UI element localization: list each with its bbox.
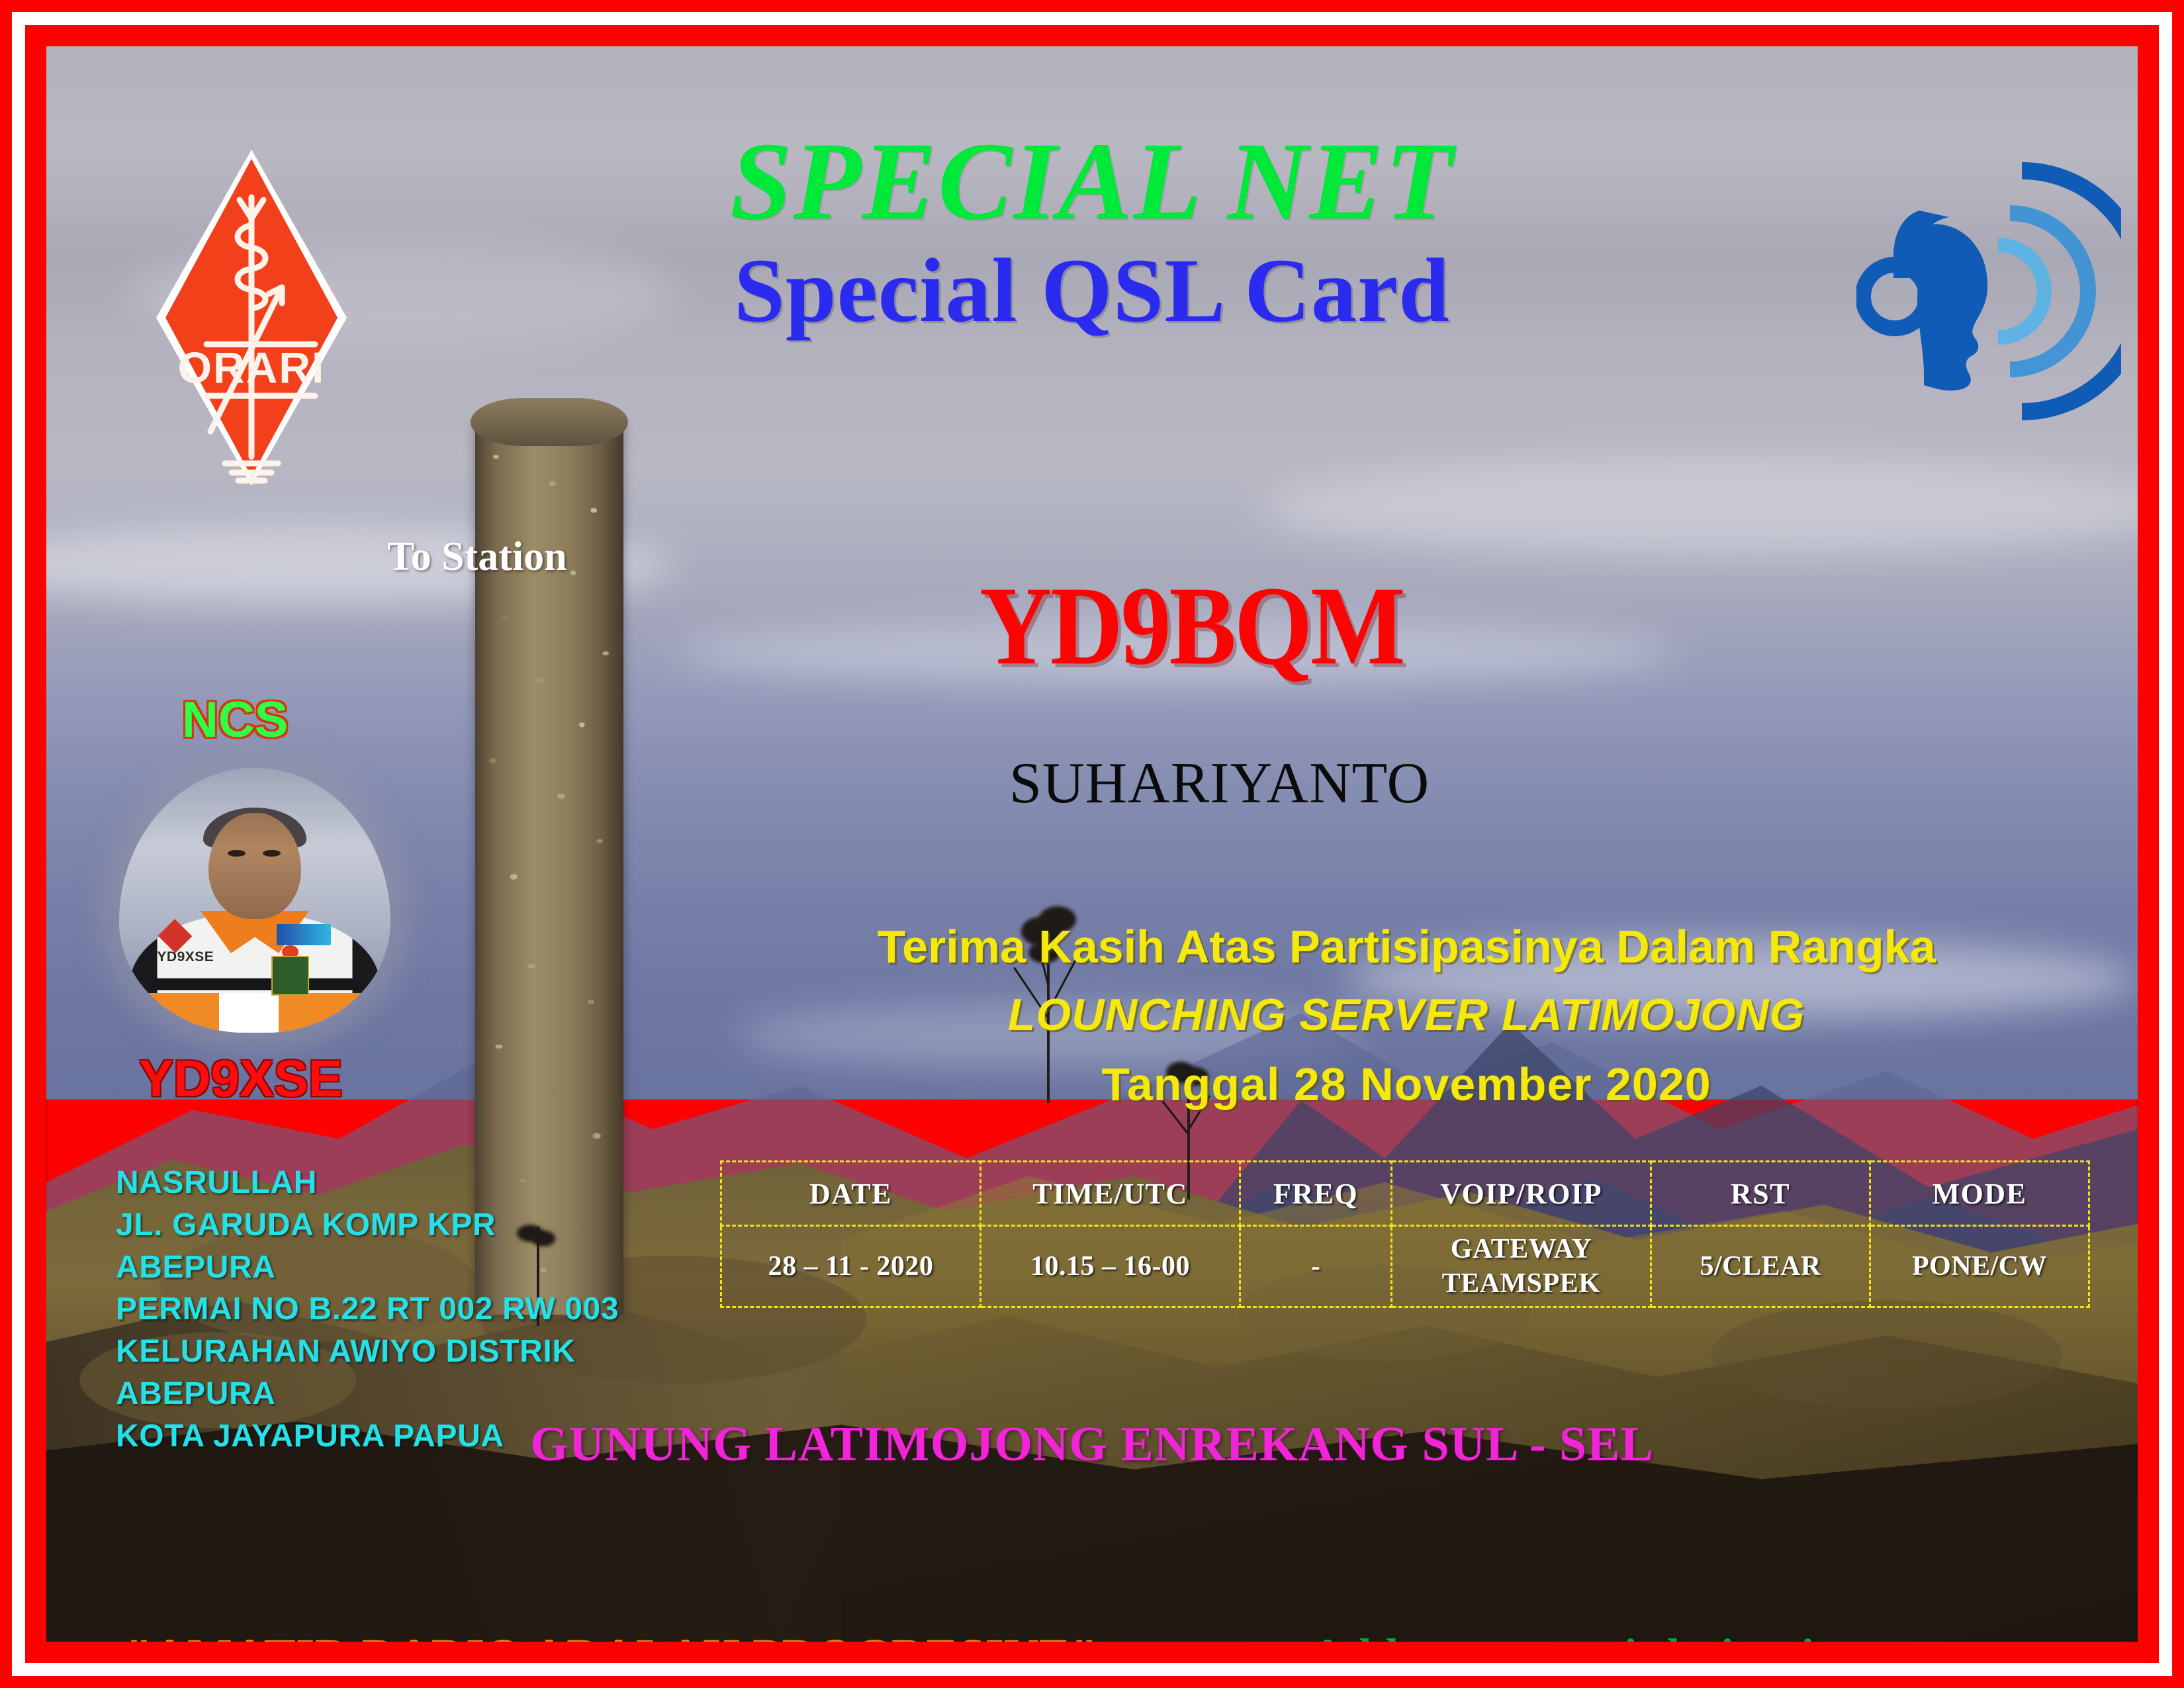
cell-freq: - [1240, 1226, 1392, 1307]
id-card-icon [271, 956, 309, 996]
table-header-row: DATE TIME/UTC FREQ VOIP/ROIP RST MODE [721, 1162, 2089, 1226]
qso-log-table: DATE TIME/UTC FREQ VOIP/ROIP RST MODE 28… [720, 1160, 2090, 1308]
header-mode: MODE [1870, 1162, 2089, 1226]
card-white-frame: ORARI SPECIAL NET Special QSL Card To St… [12, 12, 2172, 1676]
page-subtitle-special-qsl-card: Special QSL Card [46, 245, 2138, 336]
recipient-callsign: YD9BQM [979, 569, 1404, 682]
address-line: PERMAI NO B.22 RT 002 RW 003 [116, 1288, 619, 1331]
header-rst: RST [1651, 1162, 1870, 1226]
chest-logo-icon [277, 924, 331, 945]
orari-logo-text: ORARI [178, 343, 326, 392]
table-row: 28 – 11 - 2020 10.15 – 16-00 - GATEWAYTE… [721, 1226, 2089, 1307]
qsl-card: ORARI SPECIAL NET Special QSL Card To St… [0, 0, 2184, 1688]
cell-date: 28 – 11 - 2020 [721, 1226, 981, 1307]
address-line: JL. GARUDA KOMP KPR [116, 1204, 619, 1246]
header-voip-roip: VOIP/ROIP [1392, 1162, 1651, 1226]
cell-mode: PONE/CW [1870, 1226, 2089, 1307]
thanks-line-2-event: LOUNCHING SERVER LATIMOJONG [774, 989, 2038, 1041]
cell-time: 10.15 – 16-00 [981, 1226, 1240, 1307]
thanks-line-1: Terima Kasih Atas Partisipasinya Dalam R… [774, 920, 2038, 973]
ncs-label: NCS [182, 695, 288, 745]
address-line: ABEPURA [116, 1373, 619, 1415]
operator-name: SUHARIYANTO [1009, 755, 1430, 813]
page-title-special-net: SPECIAL NET [46, 126, 2138, 237]
shirt-callsign-text: YD9XSE [157, 949, 214, 965]
header-date: DATE [721, 1162, 981, 1226]
thanks-message-block: Terima Kasih Atas Partisipasinya Dalam R… [774, 920, 2038, 1111]
header-time-utc: TIME/UTC [981, 1162, 1240, 1226]
address-line: NASRULLAH [116, 1162, 619, 1204]
ncs-callsign: YD9XSE [139, 1053, 343, 1104]
location-text: GUNUNG LATIMOJONG ENREKANG SUL - SEL [46, 1420, 2138, 1469]
ncs-operator-photo: YD9XSE [119, 768, 390, 1033]
cell-rst: 5/CLEAR [1651, 1226, 1870, 1307]
station-address-block: NASRULLAH JL. GARUDA KOMP KPR ABEPURA PE… [116, 1162, 619, 1458]
card-inner-red-frame: ORARI SPECIAL NET Special QSL Card To St… [25, 25, 2159, 1663]
to-station-label: To Station [387, 536, 567, 577]
header-freq: FREQ [1240, 1162, 1392, 1226]
footer-motto: "AMATIR RADIO ADALAH PROGRESIVE" [126, 1632, 1098, 1642]
cell-voip: GATEWAYTEAMSPEK [1392, 1226, 1651, 1307]
background-photo: ORARI SPECIAL NET Special QSL Card To St… [46, 46, 2138, 1642]
footer-web-address: Address : amatir.latimojong.com [1310, 1632, 1987, 1642]
address-line: KELURAHAN AWIYO DISTRIK [116, 1331, 619, 1373]
thanks-line-3-date: Tanggal 28 November 2020 [774, 1058, 2038, 1111]
address-line: ABEPURA [116, 1246, 619, 1289]
